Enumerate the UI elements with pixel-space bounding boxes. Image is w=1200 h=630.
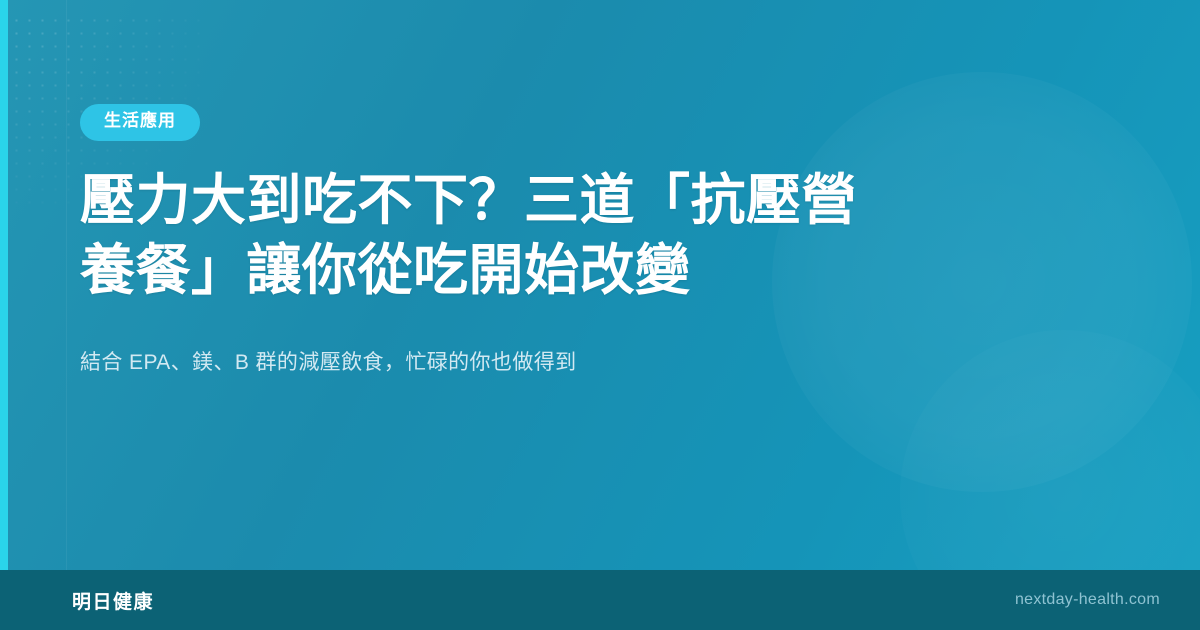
page-title: 壓力大到吃不下？三道「抗壓營養餐」讓你從吃開始改變: [80, 165, 910, 306]
left-vertical-rule: [66, 0, 67, 570]
category-badge[interactable]: 生活應用: [80, 104, 200, 141]
article-cover-card: 生活應用 壓力大到吃不下？三道「抗壓營養餐」讓你從吃開始改變 結合 EPA、鎂、…: [0, 0, 1200, 630]
footer-brand-name: 明日健康: [72, 587, 154, 614]
page-subtitle: 結合 EPA、鎂、B 群的減壓飲食，忙碌的你也做得到: [80, 347, 1120, 379]
left-accent-bar: [0, 0, 8, 630]
footer-site-url: nextday-health.com: [1015, 591, 1160, 609]
footer-bar: 明日健康 nextday-health.com: [0, 570, 1200, 630]
cover-content: 生活應用 壓力大到吃不下？三道「抗壓營養餐」讓你從吃開始改變 結合 EPA、鎂、…: [80, 0, 1120, 379]
